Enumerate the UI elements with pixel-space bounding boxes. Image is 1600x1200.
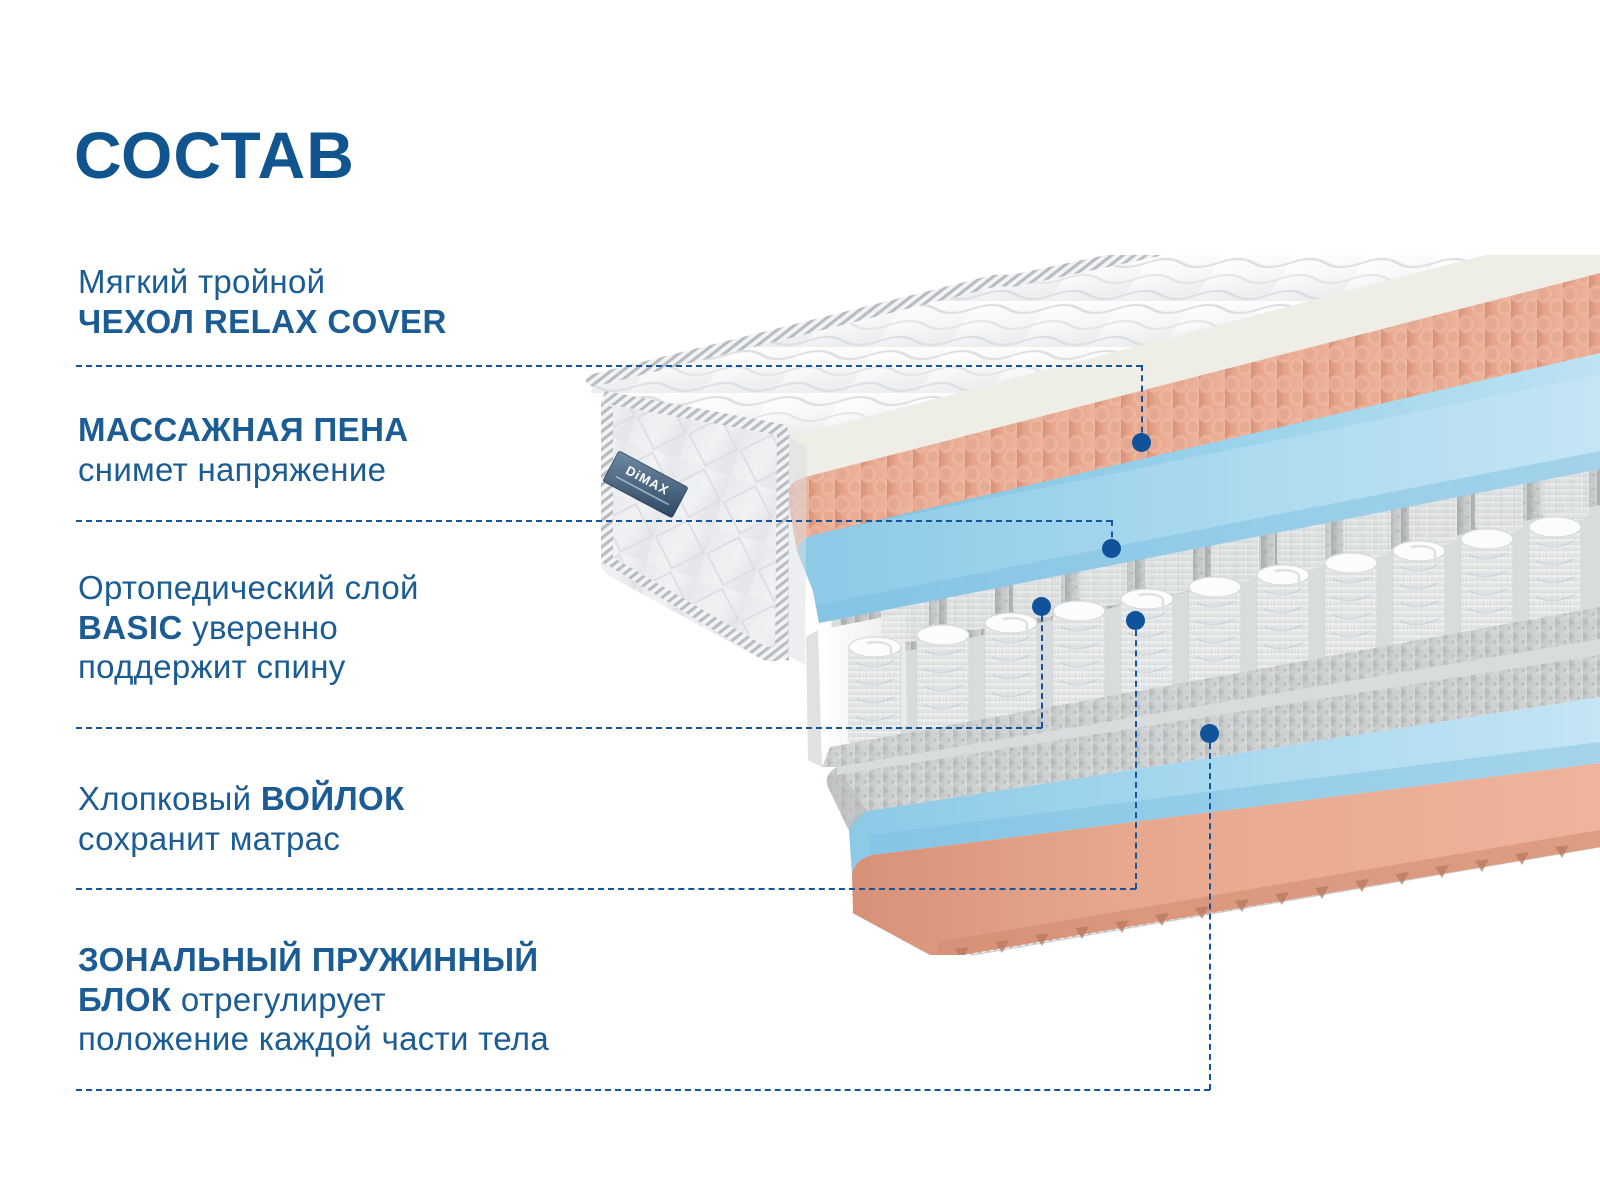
feature-spring-keyword: БЛОК xyxy=(78,981,171,1018)
infographic-page: СОСТАВ Мягкий тройной ЧЕХОЛ RELAX COVER … xyxy=(0,0,1600,1200)
connector-felt-dot xyxy=(1126,611,1145,630)
connector-basic-dot xyxy=(1032,597,1051,616)
feature-basic-ortho: Ортопедический слой BASIC уверенно подде… xyxy=(78,568,419,687)
connector-spring-vertical xyxy=(1209,733,1211,1090)
feature-foam-line2: снимет напряжение xyxy=(78,450,409,490)
connector-cover-dot xyxy=(1132,433,1151,452)
feature-spring-line2-rest: отрегулирует xyxy=(171,981,386,1018)
feature-cover-line1: Мягкий тройной xyxy=(78,262,447,302)
connector-foam-horizontal xyxy=(76,520,1112,522)
feature-massage-foam: МАССАЖНАЯ ПЕНА снимет напряжение xyxy=(78,410,409,489)
page-title: СОСТАВ xyxy=(74,122,355,188)
feature-felt-line1: Хлопковый ВОЙЛОК xyxy=(78,779,405,819)
feature-relax-cover: Мягкий тройной ЧЕХОЛ RELAX COVER xyxy=(78,262,447,341)
feature-foam-line1: МАССАЖНАЯ ПЕНА xyxy=(78,410,409,450)
connector-foam-dot xyxy=(1102,539,1121,558)
feature-cotton-felt: Хлопковый ВОЙЛОК сохранит матрас xyxy=(78,779,405,858)
feature-basic-line3: поддержит спину xyxy=(78,647,419,687)
feature-spring-line2: БЛОК отрегулирует xyxy=(78,980,549,1020)
feature-basic-line2: BASIC уверенно xyxy=(78,608,419,648)
feature-cover-line2: ЧЕХОЛ RELAX COVER xyxy=(78,302,447,342)
connector-basic-vertical xyxy=(1041,606,1043,728)
connector-spring-horizontal xyxy=(76,1089,1210,1091)
connector-cover-horizontal xyxy=(76,365,1142,367)
connector-cover-vertical xyxy=(1141,365,1143,443)
feature-felt-line1-lead: Хлопковый xyxy=(78,780,261,817)
mattress-cutaway-illustration: DiMAX xyxy=(575,255,1600,955)
feature-basic-line1: Ортопедический слой xyxy=(78,568,419,608)
feature-felt-keyword: ВОЙЛОК xyxy=(261,780,405,817)
feature-basic-line2-rest: уверенно xyxy=(183,609,338,646)
feature-basic-keyword: BASIC xyxy=(78,609,183,646)
connector-felt-vertical xyxy=(1135,620,1137,889)
feature-spring-block: ЗОНАЛЬНЫЙ ПРУЖИННЫЙ БЛОК отрегулирует по… xyxy=(78,940,549,1059)
feature-spring-line1: ЗОНАЛЬНЫЙ ПРУЖИННЫЙ xyxy=(78,940,549,980)
connector-spring-dot xyxy=(1200,724,1219,743)
connector-basic-horizontal xyxy=(76,727,1042,729)
feature-felt-line2: сохранит матрас xyxy=(78,819,405,859)
feature-spring-line3: положение каждой части тела xyxy=(78,1019,549,1059)
connector-felt-horizontal xyxy=(76,888,1136,890)
